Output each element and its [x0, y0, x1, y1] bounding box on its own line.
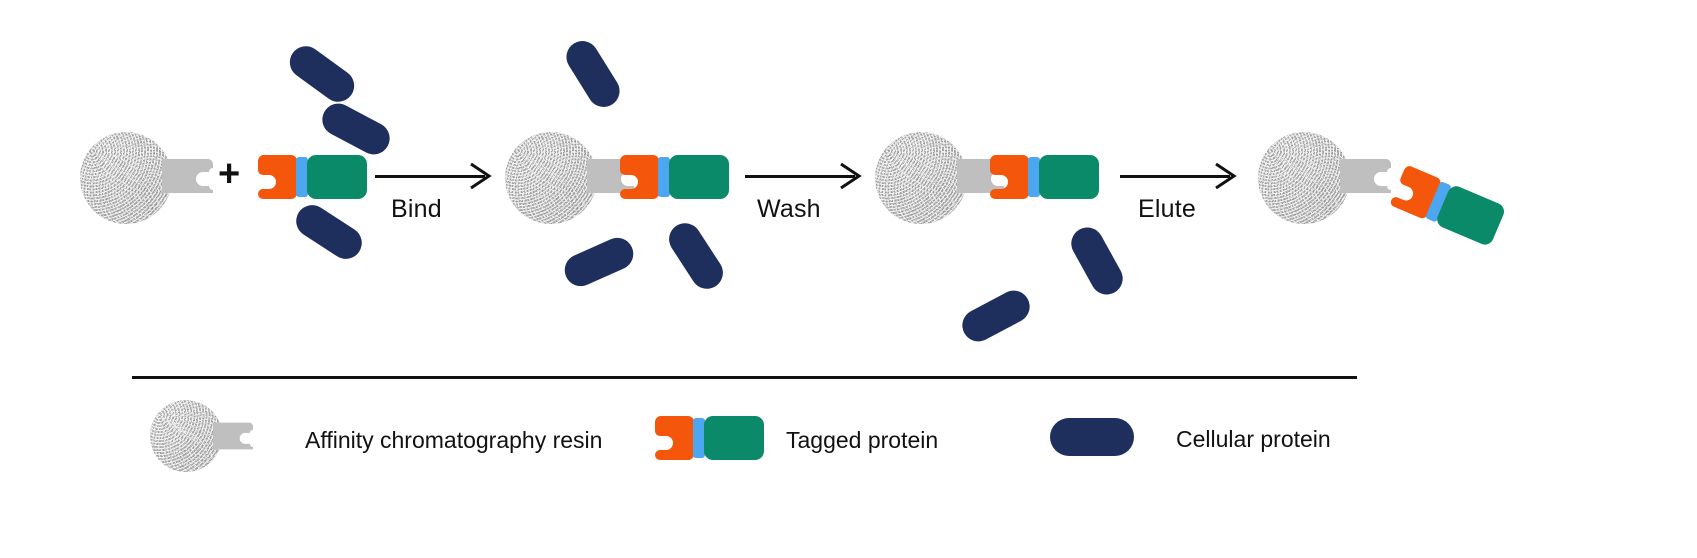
arrow-head-icon: [469, 162, 493, 190]
linker-stalk-icon: [1340, 155, 1396, 197]
cellular-protein-icon: [560, 233, 639, 292]
tagged-protein-icon: [989, 155, 1099, 204]
arrow-wash-label: Wash: [757, 195, 821, 224]
arrow-wash: Wash: [745, 168, 870, 228]
linker-stalk-icon: [213, 419, 257, 453]
resin-bead-icon: [505, 132, 597, 224]
arrow-head-icon: [839, 162, 863, 190]
arrow-bind-label: Bind: [391, 195, 442, 224]
cellular-protein-icon: [957, 285, 1036, 347]
legend-resin: Affinity chromatography resin: [150, 400, 222, 472]
resin-bead-icon: [150, 400, 222, 472]
resin-bead-icon: [1258, 132, 1350, 224]
legend-divider: [132, 376, 1357, 379]
tagged-protein-icon: [1386, 164, 1506, 252]
arrow-head-icon: [1214, 162, 1238, 190]
legend-tagged-label: Tagged protein: [786, 427, 938, 454]
diagram-canvas: + Bind: [0, 0, 1697, 558]
legend: Affinity chromatography resin Tagged pro…: [132, 392, 1362, 482]
tagged-protein-icon: [654, 416, 764, 460]
cellular-protein-icon: [560, 35, 625, 113]
resin-bead-icon: [80, 132, 172, 224]
cellular-protein-icon: [1066, 222, 1129, 300]
linker-stalk-icon: [162, 155, 218, 197]
plus-sign: +: [218, 155, 240, 193]
arrow-elute: Elute: [1120, 168, 1250, 228]
step-2-bound: [495, 0, 755, 340]
cellular-protein-icon: [663, 217, 729, 295]
cellular-protein-icon: [1050, 418, 1134, 456]
tagged-protein-icon: [257, 155, 367, 204]
resin-bead-icon: [875, 132, 967, 224]
cellular-protein-icon: [283, 40, 360, 108]
arrow-bind: Bind: [375, 168, 500, 228]
legend-cellular-label: Cellular protein: [1176, 426, 1331, 453]
tagged-protein-icon: [619, 155, 729, 204]
legend-tagged: Tagged protein: [654, 416, 764, 465]
step-4-eluted: [1248, 0, 1548, 340]
step-3-washed: [865, 0, 1135, 360]
legend-resin-label: Affinity chromatography resin: [305, 427, 602, 454]
cellular-protein-icon: [317, 98, 396, 160]
arrow-elute-label: Elute: [1138, 195, 1196, 224]
cellular-protein-icon: [290, 199, 368, 265]
